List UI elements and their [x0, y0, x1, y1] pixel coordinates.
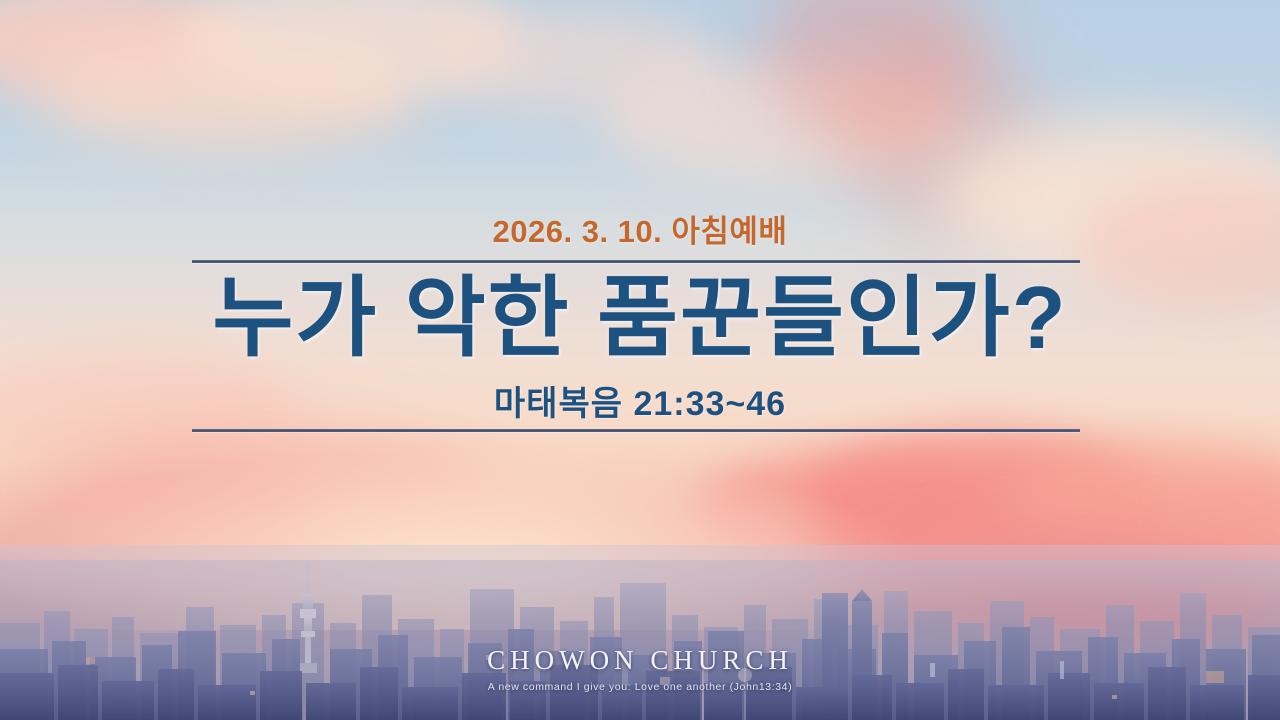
church-name: CHOWON CHURCH [0, 645, 1280, 676]
sermon-title: 누가 악한 품꾼들인가? [0, 272, 1280, 364]
scripture-reference: 마태복음 21:33~46 [0, 376, 1280, 425]
divider-rule-bottom [192, 429, 1080, 432]
city-skyline [0, 545, 1280, 720]
sermon-title-slide: 2026. 3. 10. 아침예배 누가 악한 품꾼들인가? 마태복음 21:3… [0, 0, 1280, 720]
divider-rule-top [192, 260, 1080, 263]
church-logo: CHOWON CHURCH A new command I give you: … [0, 645, 1280, 693]
service-date: 2026. 3. 10. 아침예배 [0, 206, 1280, 251]
church-tagline: A new command I give you: Love one anoth… [0, 681, 1280, 693]
